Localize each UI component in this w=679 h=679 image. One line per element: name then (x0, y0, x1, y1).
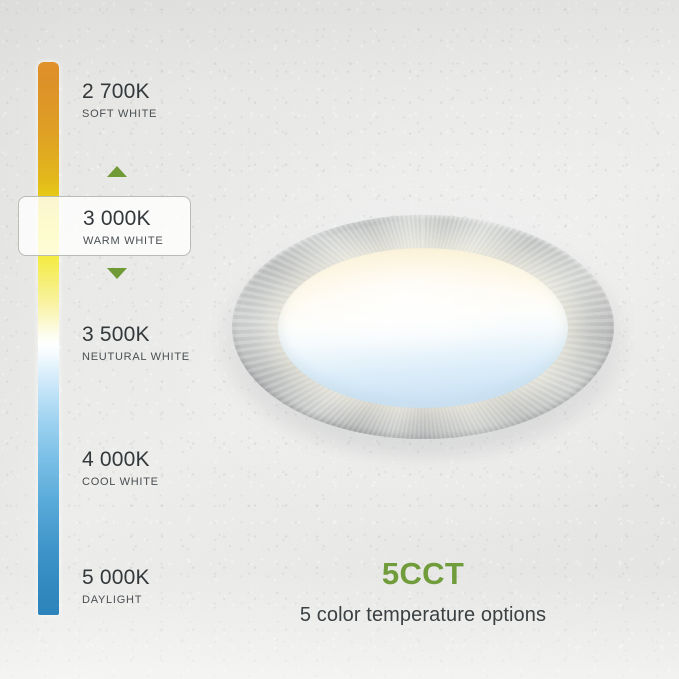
cct-option-2700k[interactable]: 2 700K SOFT WHITE (82, 81, 157, 120)
fixture-lens-highlight (278, 248, 568, 408)
cct-kelvin-name: WARM WHITE (83, 236, 163, 247)
cct-kelvin-value: 2 700K (82, 81, 157, 102)
cct-option-3500k[interactable]: 3 500K NEUTURAL WHITE (82, 324, 190, 363)
color-temperature-gradient-bar (38, 62, 59, 615)
cct-option-5000k[interactable]: 5 000K DAYLIGHT (82, 567, 150, 606)
cct-kelvin-value: 4 000K (82, 449, 159, 470)
cct-kelvin-value: 3 000K (83, 208, 163, 229)
triangle-down-icon[interactable] (107, 268, 127, 279)
cct-selected-labels: 3 000K WARM WHITE (83, 208, 163, 247)
cct-option-4000k[interactable]: 4 000K COOL WHITE (82, 449, 159, 488)
cct-kelvin-name: COOL WHITE (82, 477, 159, 488)
cct-option-3000k-selected[interactable]: 3 000K WARM WHITE (18, 196, 191, 256)
recessed-downlight-fixture (232, 215, 614, 439)
product-feature-graphic: 2 700K SOFT WHITE 3 000K WARM WHITE 3 50… (0, 0, 679, 679)
cct-kelvin-value: 3 500K (82, 324, 190, 345)
cct-kelvin-name: NEUTURAL WHITE (82, 352, 190, 363)
cct-kelvin-name: DAYLIGHT (82, 595, 150, 606)
cct-kelvin-value: 5 000K (82, 567, 150, 588)
triangle-up-icon[interactable] (107, 166, 127, 177)
cct-headline: 5CCT (232, 556, 614, 592)
cct-subheadline: 5 color temperature options (192, 604, 654, 627)
cct-kelvin-name: SOFT WHITE (82, 109, 157, 120)
